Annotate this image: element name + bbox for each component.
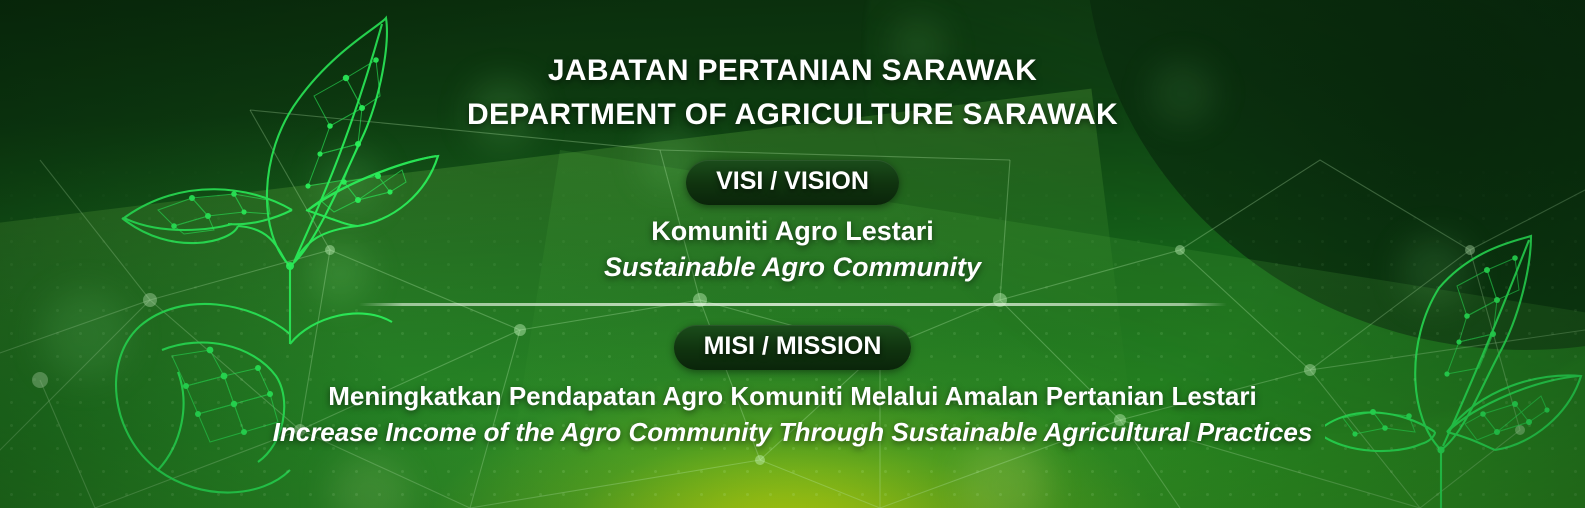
vision-mission-banner: JABATAN PERTANIAN SARAWAK DEPARTMENT OF … xyxy=(0,0,1585,508)
banner-content: JABATAN PERTANIAN SARAWAK DEPARTMENT OF … xyxy=(0,0,1585,508)
vision-statement-english: Sustainable Agro Community xyxy=(604,252,981,283)
mission-badge: MISI / MISSION xyxy=(674,325,912,370)
mission-statement-english: Increase Income of the Agro Community Th… xyxy=(273,417,1313,448)
title-malay: JABATAN PERTANIAN SARAWAK xyxy=(467,54,1118,89)
vision-badge: VISI / VISION xyxy=(686,160,899,205)
mission-statement-malay: Meningkatkan Pendapatan Agro Komuniti Me… xyxy=(328,381,1256,412)
vision-statement-malay: Komuniti Agro Lestari xyxy=(651,216,934,247)
section-divider xyxy=(359,303,1227,306)
department-title: JABATAN PERTANIAN SARAWAK DEPARTMENT OF … xyxy=(467,54,1118,133)
title-english: DEPARTMENT OF AGRICULTURE SARAWAK xyxy=(467,98,1118,133)
